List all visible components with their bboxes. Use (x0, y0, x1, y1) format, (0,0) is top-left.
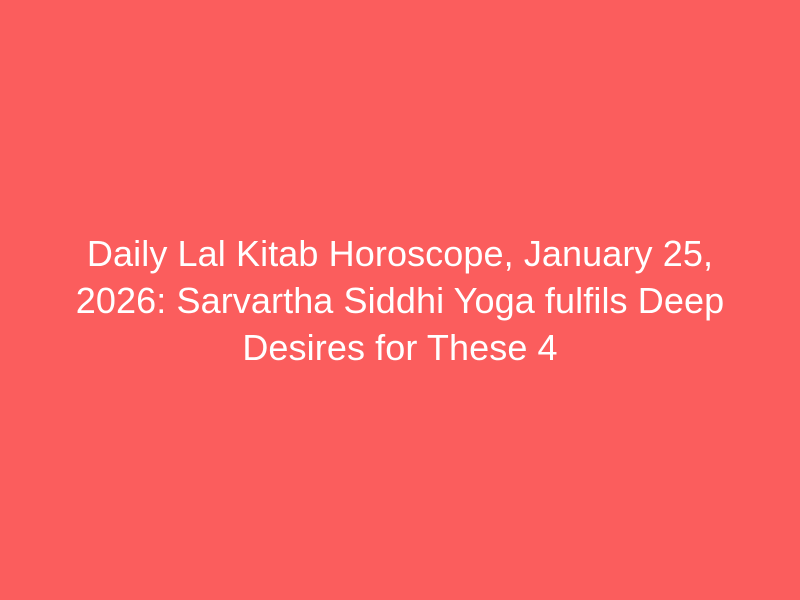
headline-block: Daily Lal Kitab Horoscope, January 25, 2… (50, 230, 750, 371)
article-placeholder-card: Daily Lal Kitab Horoscope, January 25, 2… (0, 0, 800, 600)
article-headline: Daily Lal Kitab Horoscope, January 25, 2… (74, 230, 726, 371)
